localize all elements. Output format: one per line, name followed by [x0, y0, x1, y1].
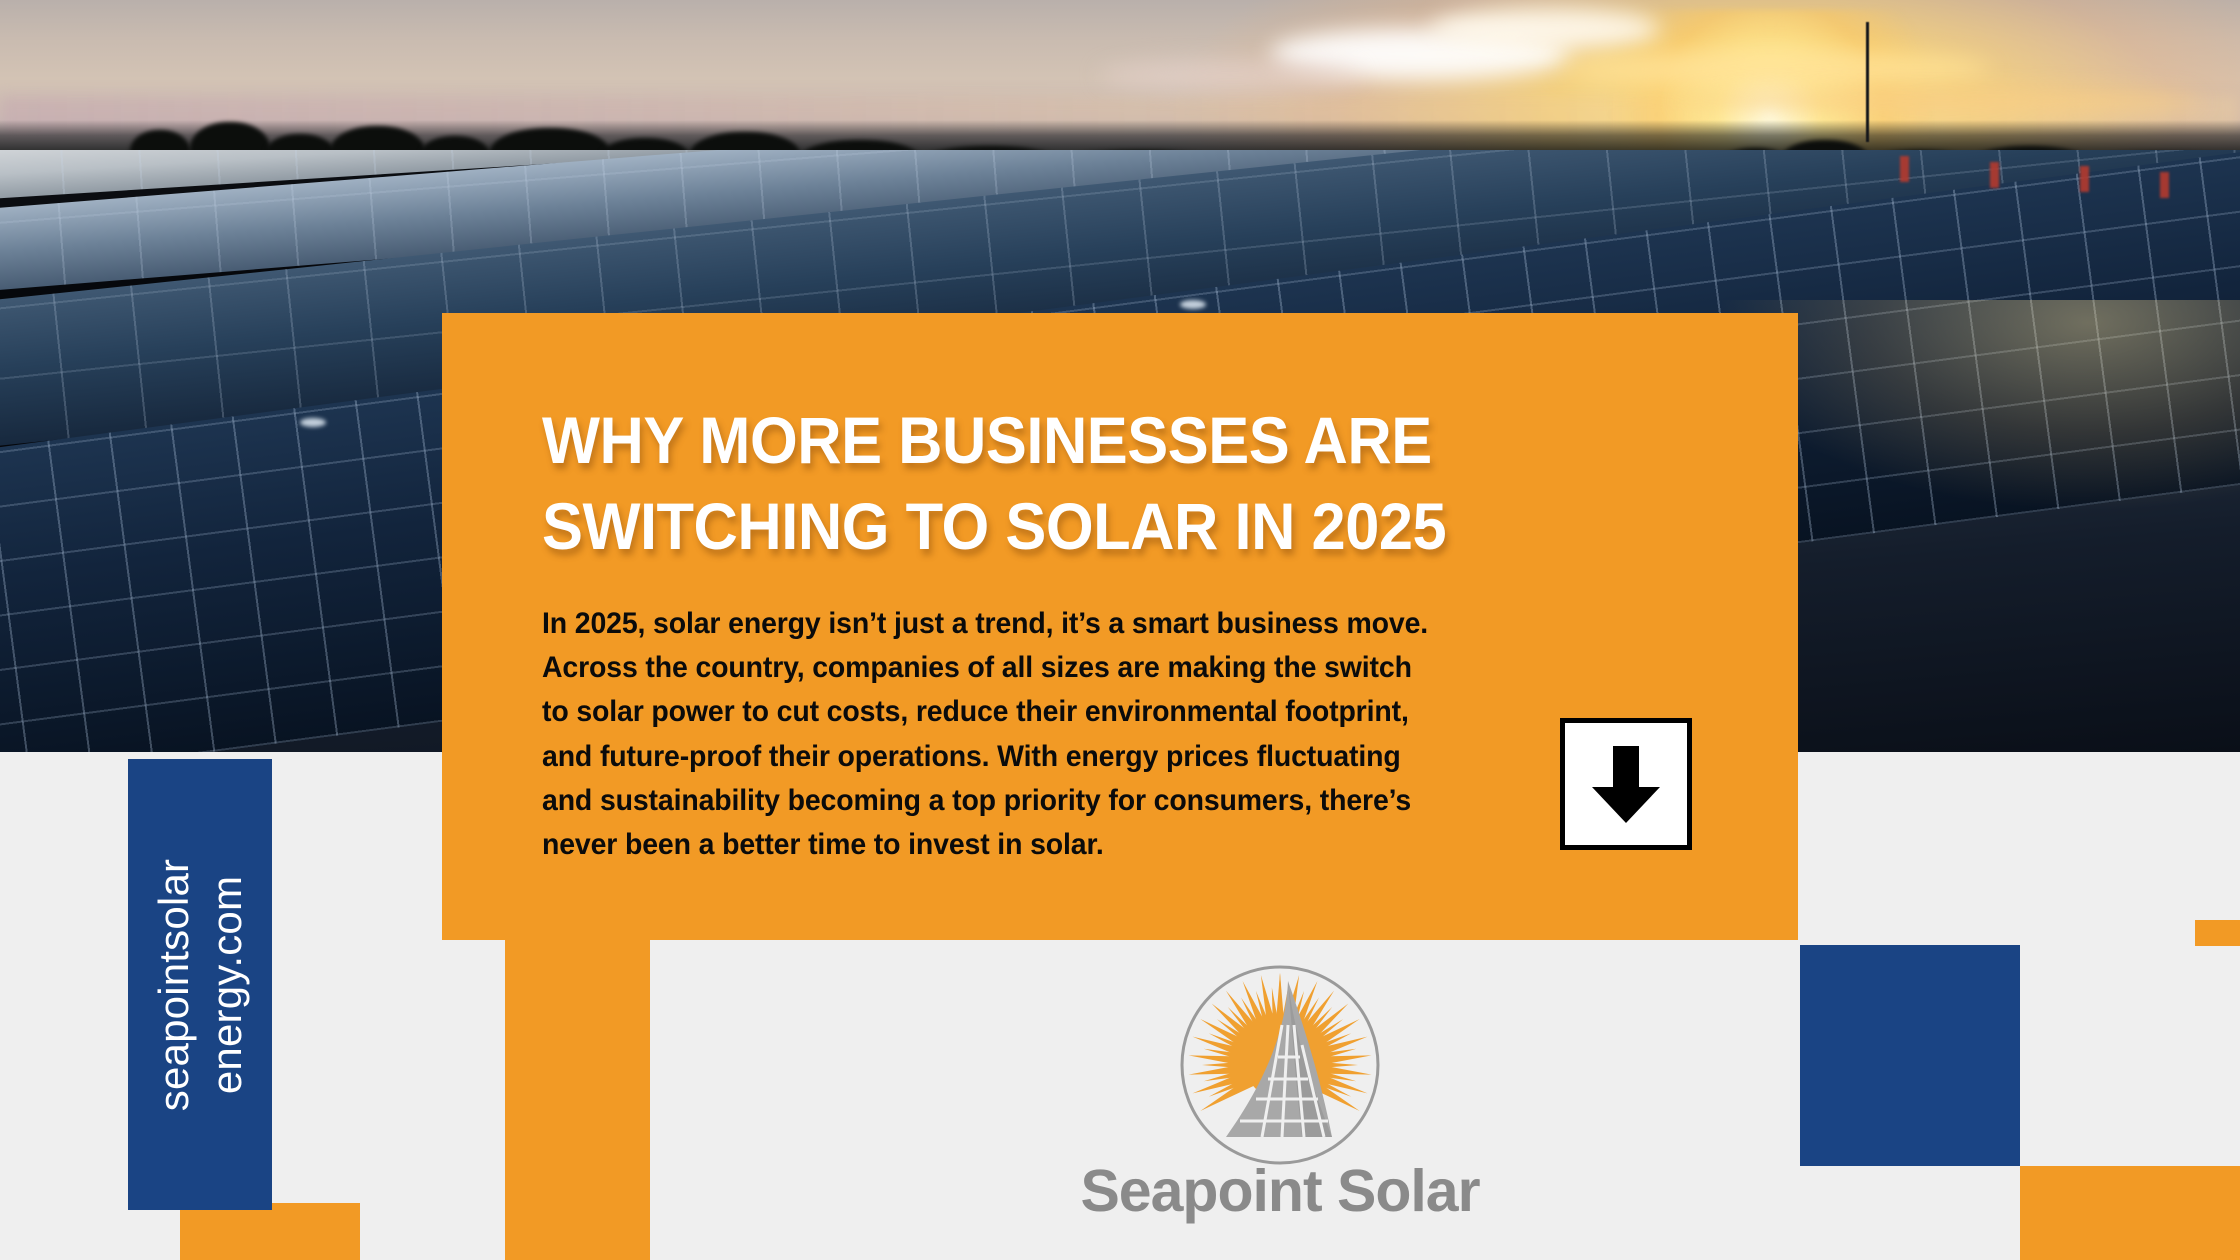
logo[interactable]: Seapoint Solar: [1010, 965, 1550, 1260]
cloud: [1560, 52, 1990, 86]
logo-wordmark: Seapoint Solar: [1010, 1157, 1550, 1225]
cloud: [1680, 88, 2200, 114]
decorative-orange-block-bottom-right: [2020, 1166, 2240, 1260]
website-url-line-1: seapointsolar: [147, 858, 200, 1110]
website-tab-text-wrap: seapointsolar energy.com: [128, 759, 272, 1210]
scroll-down-button[interactable]: [1560, 718, 1692, 850]
website-tab[interactable]: seapointsolar energy.com: [128, 759, 272, 1210]
poster-canvas: seapointsolar energy.com WHY MORE BUSINE…: [0, 0, 2240, 1260]
body-paragraph: In 2025, solar energy isn’t just a trend…: [542, 602, 1439, 867]
decorative-orange-block-bottom-left: [180, 1203, 360, 1260]
cloud: [1430, 8, 1660, 50]
sun-over-solar-sail-icon: [1010, 965, 1550, 1165]
cloud: [1100, 60, 1360, 90]
website-url: seapointsolar energy.com: [147, 858, 253, 1110]
decorative-orange-column: [505, 940, 650, 1260]
arrow-down-icon: [1588, 742, 1664, 826]
decorative-orange-nub: [2195, 920, 2240, 946]
website-url-line-2: energy.com: [200, 858, 253, 1110]
decorative-blue-square: [1800, 945, 2020, 1166]
page-title: WHY MORE BUSINESSES ARE SWITCHING TO SOL…: [542, 397, 1621, 569]
